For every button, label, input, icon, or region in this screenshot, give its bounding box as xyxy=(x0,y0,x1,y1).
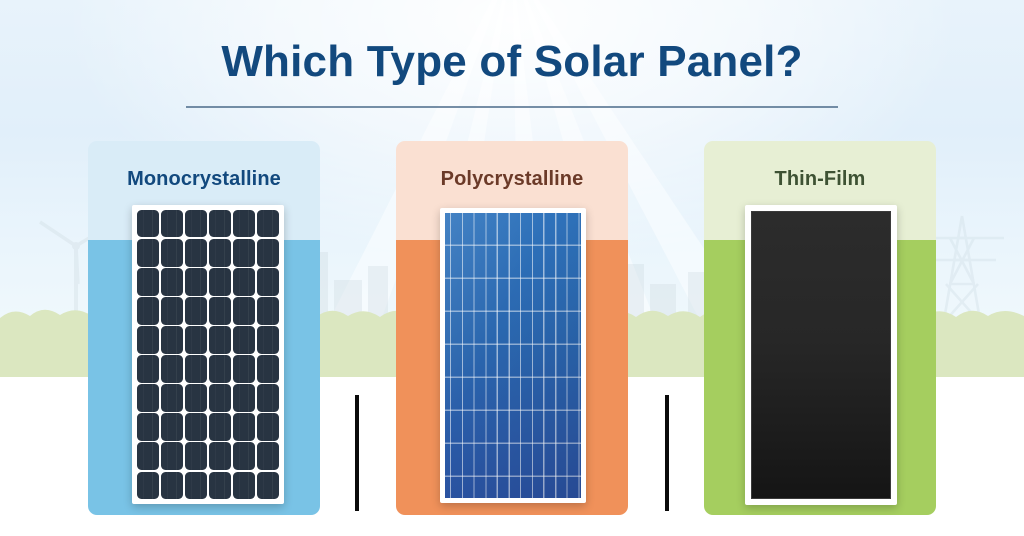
polycrystalline-panel-face xyxy=(445,213,581,498)
solar-cell xyxy=(233,384,255,411)
solar-cell xyxy=(161,326,183,353)
solar-cell xyxy=(137,355,159,382)
thin-film-panel-face xyxy=(751,211,891,499)
monocrystalline-cell-grid xyxy=(137,210,279,499)
solar-cell xyxy=(185,442,207,469)
solar-cell xyxy=(137,413,159,440)
page-title: Which Type of Solar Panel? xyxy=(0,38,1024,86)
solar-cell xyxy=(257,355,279,382)
solar-cell xyxy=(257,297,279,324)
solar-cell xyxy=(137,268,159,295)
solar-cell xyxy=(233,355,255,382)
solar-cell xyxy=(233,442,255,469)
solar-cell xyxy=(185,268,207,295)
solar-cell xyxy=(185,472,207,499)
solar-cell xyxy=(137,326,159,353)
monocrystalline-panel-face xyxy=(137,210,279,499)
solar-cell xyxy=(257,326,279,353)
solar-cell xyxy=(161,413,183,440)
solar-cell xyxy=(257,413,279,440)
solar-cell xyxy=(233,268,255,295)
solar-cell xyxy=(161,239,183,266)
solar-cell xyxy=(185,384,207,411)
solar-cell xyxy=(209,442,231,469)
solar-cell xyxy=(209,472,231,499)
solar-cell xyxy=(185,239,207,266)
solar-cell xyxy=(233,326,255,353)
solar-cell xyxy=(137,297,159,324)
vertical-divider xyxy=(355,395,359,511)
solar-cell xyxy=(137,472,159,499)
solar-cell xyxy=(161,297,183,324)
solar-cell xyxy=(185,355,207,382)
card-label-monocrystalline: Monocrystalline xyxy=(88,168,320,191)
solar-cell xyxy=(209,384,231,411)
solar-cell xyxy=(233,239,255,266)
solar-cell xyxy=(209,355,231,382)
solar-cell xyxy=(161,384,183,411)
solar-cell xyxy=(137,239,159,266)
solar-cell xyxy=(257,239,279,266)
infographic-canvas: Which Type of Solar Panel? Monocrystalli… xyxy=(0,0,1024,536)
solar-cell xyxy=(209,297,231,324)
card-label-polycrystalline: Polycrystalline xyxy=(396,168,628,191)
solar-cell xyxy=(233,472,255,499)
solar-cell xyxy=(161,442,183,469)
solar-cell xyxy=(137,384,159,411)
solar-cell xyxy=(209,210,231,237)
solar-cell xyxy=(233,210,255,237)
solar-cell xyxy=(257,442,279,469)
solar-cell xyxy=(161,355,183,382)
solar-cell xyxy=(137,210,159,237)
monocrystalline-solar-panel[interactable] xyxy=(132,205,284,504)
card-label-thin-film: Thin-Film xyxy=(704,168,936,191)
panel-sheen-overlay xyxy=(445,213,581,498)
solar-cell xyxy=(161,210,183,237)
solar-cell xyxy=(257,472,279,499)
polycrystalline-solar-panel[interactable] xyxy=(440,208,586,503)
solar-cell xyxy=(257,384,279,411)
page-title-wrap: Which Type of Solar Panel? xyxy=(0,38,1024,86)
solar-cell xyxy=(137,442,159,469)
solar-cell xyxy=(161,472,183,499)
solar-cell xyxy=(185,326,207,353)
thin-film-solar-panel[interactable] xyxy=(745,205,897,505)
solar-cell xyxy=(161,268,183,295)
solar-cell xyxy=(185,297,207,324)
solar-cell xyxy=(209,239,231,266)
solar-cell xyxy=(257,268,279,295)
solar-cell xyxy=(209,268,231,295)
solar-cell xyxy=(233,413,255,440)
title-underline-rule xyxy=(186,106,838,108)
solar-cell xyxy=(209,413,231,440)
solar-cell xyxy=(185,210,207,237)
vertical-divider xyxy=(665,395,669,511)
solar-cell xyxy=(257,210,279,237)
solar-cell xyxy=(185,413,207,440)
solar-cell xyxy=(233,297,255,324)
solar-cell xyxy=(209,326,231,353)
